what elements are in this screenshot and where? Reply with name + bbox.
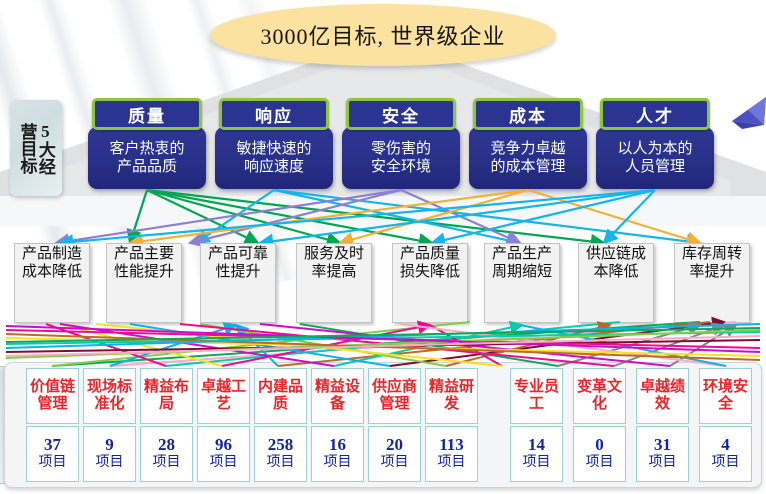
project-name: 专业员工 — [511, 379, 562, 414]
project-count-box: 37 项目 — [26, 426, 79, 482]
project-count: 14 — [528, 436, 545, 455]
project-cell-10[interactable]: 变革文化 0 项目 — [573, 368, 626, 480]
metric-box-3[interactable]: 产品可靠性提升 — [200, 243, 276, 323]
project-cell-1[interactable]: 价值链管理 37 项目 — [26, 368, 79, 480]
project-unit: 项目 — [381, 455, 409, 472]
project-name: 供应商管理 — [369, 379, 420, 414]
project-unit: 项目 — [153, 455, 181, 472]
project-count-box: 31 项目 — [636, 426, 689, 482]
project-cell-11[interactable]: 卓越绩效 31 项目 — [636, 368, 689, 480]
metric-box-2[interactable]: 产品主要性能提升 — [106, 243, 182, 323]
project-cell-8[interactable]: 精益研发 113 项目 — [425, 368, 478, 480]
project-count: 0 — [595, 436, 604, 455]
goal-body-quality: 客户热衷的 产品品质 — [88, 127, 206, 189]
project-count: 96 — [215, 436, 232, 455]
metric-box-1[interactable]: 产品制造成本降低 — [14, 243, 90, 323]
project-count: 28 — [158, 436, 175, 455]
project-unit: 项目 — [523, 455, 551, 472]
goal-line1: 零伤害的 — [371, 140, 431, 158]
project-count-box: 14 项目 — [510, 426, 563, 482]
metric-label: 库存周转率提升 — [675, 246, 749, 281]
page-title: 3000亿目标, 世界级企业 — [260, 19, 505, 51]
project-count-box: 0 项目 — [573, 426, 626, 482]
project-name: 卓越绩效 — [637, 379, 688, 414]
goal-line2: 响应速度 — [244, 158, 304, 176]
metric-label: 产品质量损失降低 — [393, 246, 467, 281]
goal-line2: 人员管理 — [625, 158, 685, 176]
project-name: 卓越工艺 — [198, 379, 249, 414]
project-name: 变革文化 — [574, 379, 625, 414]
metric-label: 产品制造成本降低 — [15, 246, 89, 281]
project-name: 精益布局 — [141, 379, 192, 414]
project-count-box: 258 项目 — [254, 426, 307, 482]
project-cell-6[interactable]: 精益设备 16 项目 — [311, 368, 364, 480]
goal-body-talent: 以人为本的 人员管理 — [596, 127, 714, 189]
arrow-decoration-icon — [726, 95, 766, 137]
project-cell-5[interactable]: 内建品质 258 项目 — [254, 368, 307, 480]
goal-line2: 的成本管理 — [490, 158, 565, 176]
goal-card-cost[interactable]: 成本 竞争力卓越 的成本管理 — [469, 98, 587, 189]
project-count-box: 20 项目 — [368, 426, 421, 482]
goal-body-safety: 零伤害的 安全环境 — [342, 127, 460, 189]
project-unit: 项目 — [649, 455, 677, 472]
project-name-box: 内建品质 — [254, 368, 307, 424]
project-count-box: 113 项目 — [425, 426, 478, 482]
goal-header-safety: 安全 — [346, 98, 456, 130]
goal-card-response[interactable]: 响应 敏捷快速的 响应速度 — [215, 98, 333, 189]
project-name-box: 卓越工艺 — [197, 368, 250, 424]
lower-band — [0, 196, 766, 226]
project-count: 9 — [105, 436, 114, 455]
project-name-box: 卓越绩效 — [636, 368, 689, 424]
metric-label: 产品主要性能提升 — [107, 246, 181, 281]
project-name-box: 环境安全 — [699, 368, 752, 424]
project-name: 内建品质 — [255, 379, 306, 414]
project-name-box: 专业员工 — [510, 368, 563, 424]
project-count: 113 — [439, 436, 464, 455]
project-cell-9[interactable]: 专业员工 14 项目 — [510, 368, 563, 480]
metric-box-4[interactable]: 服务及时率提高 — [296, 243, 372, 323]
project-count: 20 — [386, 436, 403, 455]
project-unit: 项目 — [39, 455, 67, 472]
project-cell-7[interactable]: 供应商管理 20 项目 — [368, 368, 421, 480]
project-name-box: 现场标准化 — [83, 368, 136, 424]
goal-body-response: 敏捷快速的 响应速度 — [215, 127, 333, 189]
project-name: 价值链管理 — [27, 379, 78, 414]
plaque-column-right: 5大经 — [37, 122, 54, 175]
metric-label: 产品可靠性提升 — [201, 246, 275, 281]
project-name-box: 精益布局 — [140, 368, 193, 424]
project-name: 现场标准化 — [84, 379, 135, 414]
project-count-box: 96 项目 — [197, 426, 250, 482]
goal-header-cost: 成本 — [473, 98, 583, 130]
goal-line1: 客户热衷的 — [109, 140, 184, 158]
project-count: 37 — [44, 436, 61, 455]
plaque-column-left: 营目标 — [18, 123, 35, 174]
goal-line2: 产品品质 — [117, 158, 177, 176]
project-name-box: 精益设备 — [311, 368, 364, 424]
project-unit: 项目 — [438, 455, 466, 472]
project-unit: 项目 — [267, 455, 295, 472]
goal-line1: 竞争力卓越 — [490, 140, 565, 158]
goal-body-cost: 竞争力卓越 的成本管理 — [469, 127, 587, 189]
goal-card-talent[interactable]: 人才 以人为本的 人员管理 — [596, 98, 714, 189]
project-name-box: 精益研发 — [425, 368, 478, 424]
project-count: 258 — [268, 436, 294, 455]
project-unit: 项目 — [712, 455, 740, 472]
goal-header-quality: 质量 — [92, 98, 202, 130]
goal-line1: 敏捷快速的 — [236, 140, 311, 158]
project-unit: 项目 — [210, 455, 238, 472]
project-count-box: 28 项目 — [140, 426, 193, 482]
metric-label: 供应链成本降低 — [579, 246, 653, 281]
metric-box-8[interactable]: 库存周转率提升 — [674, 243, 750, 323]
project-count: 31 — [654, 436, 671, 455]
goal-card-safety[interactable]: 安全 零伤害的 安全环境 — [342, 98, 460, 189]
project-cell-3[interactable]: 精益布局 28 项目 — [140, 368, 193, 480]
metric-label: 服务及时率提高 — [297, 246, 371, 281]
slide-canvas: 3000亿目标, 世界级企业 5大经 营目标 质量 客户热衷的 产品品质 响应 … — [0, 0, 766, 494]
project-cell-2[interactable]: 现场标准化 9 项目 — [83, 368, 136, 480]
project-name: 精益研发 — [426, 379, 477, 414]
project-unit: 项目 — [324, 455, 352, 472]
project-name-box: 变革文化 — [573, 368, 626, 424]
metric-box-6[interactable]: 产品生产周期缩短 — [484, 243, 560, 323]
project-count-box: 16 项目 — [311, 426, 364, 482]
metric-box-7[interactable]: 供应链成本降低 — [578, 243, 654, 323]
project-unit: 项目 — [96, 455, 124, 472]
metric-label: 产品生产周期缩短 — [485, 246, 559, 281]
project-count: 16 — [329, 436, 346, 455]
project-cell-12[interactable]: 环境安全 4 项目 — [699, 368, 752, 480]
project-count-box: 4 项目 — [699, 426, 752, 482]
goal-line1: 以人为本的 — [617, 140, 692, 158]
project-name: 精益设备 — [312, 379, 363, 414]
project-name-box: 供应商管理 — [368, 368, 421, 424]
project-name: 环境安全 — [700, 379, 751, 414]
project-count: 4 — [721, 436, 730, 455]
project-cell-4[interactable]: 卓越工艺 96 项目 — [197, 368, 250, 480]
project-unit: 项目 — [586, 455, 614, 472]
project-count-box: 9 项目 — [83, 426, 136, 482]
goal-header-response: 响应 — [219, 98, 329, 130]
slide-title-oval: 3000亿目标, 世界级企业 — [210, 4, 556, 66]
goal-header-talent: 人才 — [600, 98, 710, 130]
goal-card-quality[interactable]: 质量 客户热衷的 产品品质 — [88, 98, 206, 189]
goal-line2: 安全环境 — [371, 158, 431, 176]
metric-box-5[interactable]: 产品质量损失降低 — [392, 243, 468, 323]
project-name-box: 价值链管理 — [26, 368, 79, 424]
five-goals-plaque: 5大经 营目标 — [10, 100, 62, 196]
